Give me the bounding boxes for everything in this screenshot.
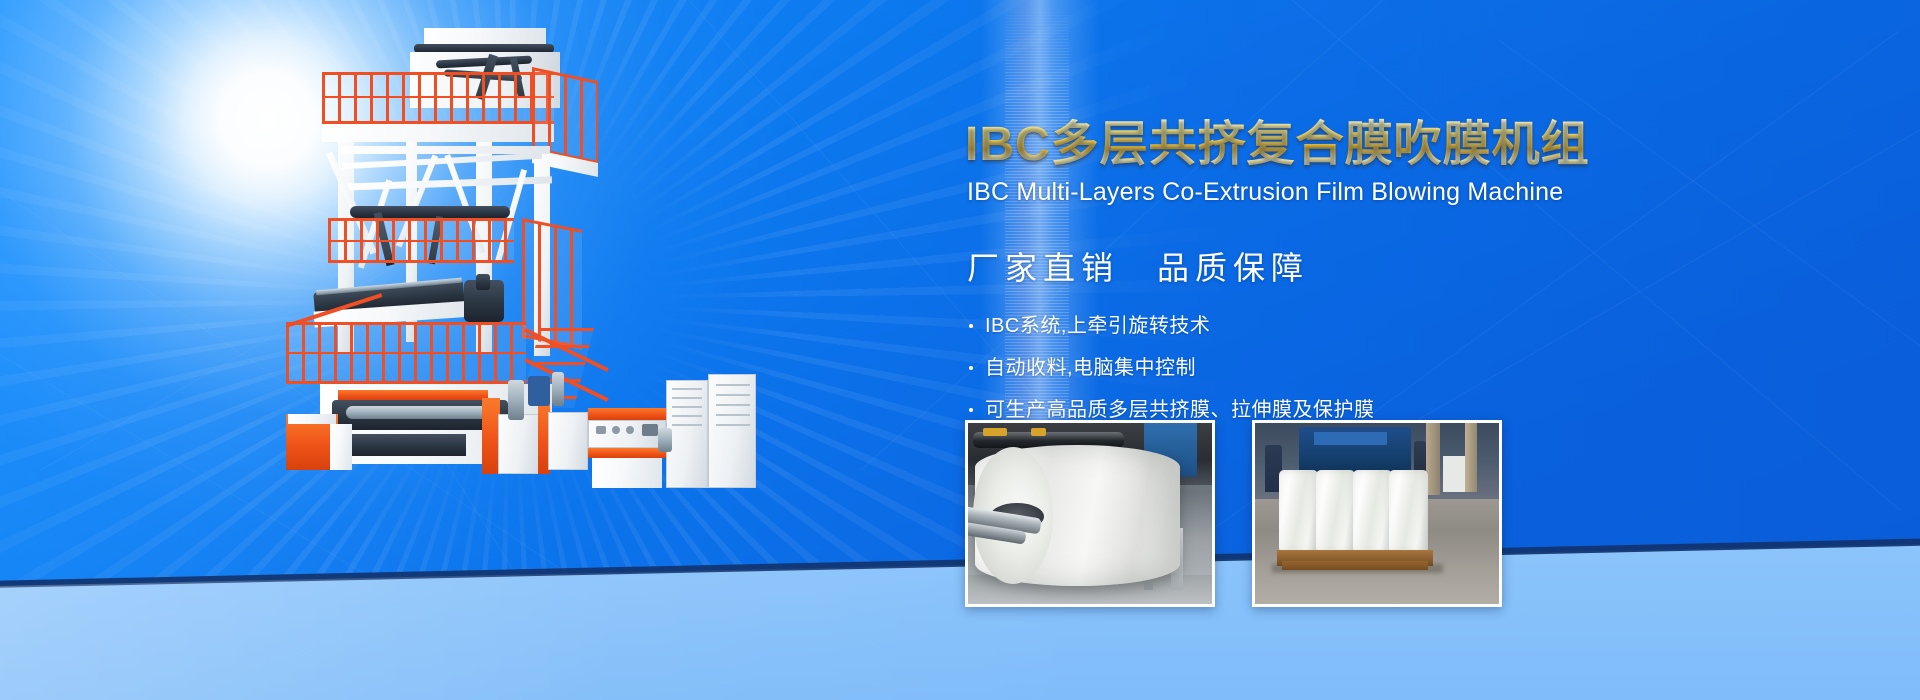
feature-item: IBC系统,上牵引旋转技术 [969,311,1865,342]
feature-list: IBC系统,上牵引旋转技术 自动收料,电脑集中控制 可生产高品质多层共挤膜、拉伸… [969,311,1865,426]
banner-title-en: IBC Multi-Layers Co-Extrusion Film Blowi… [967,178,1865,207]
photo-scene [968,423,1212,604]
product-banner: IBC多层共挤复合膜吹膜机组 IBC Multi-Layers Co-Extru… [0,0,1920,700]
banner-title-cn: IBC多层共挤复合膜吹膜机组 [965,118,1865,172]
product-photo-gallery [965,420,1502,607]
photo-scene [1255,423,1499,604]
feature-text: IBC系统,上牵引旋转技术 [985,311,1210,342]
film-rolls-on-pallet-photo [1252,420,1502,607]
feature-item: 自动收料,电脑集中控制 [969,353,1865,384]
banner-text-block: IBC多层共挤复合膜吹膜机组 IBC Multi-Layers Co-Extru… [965,118,1865,437]
banner-subheading: 厂家直销 品质保障 [967,243,1865,289]
ibc-film-blowing-machine-tower [286,28,756,518]
bullet-dot-icon [969,366,973,370]
bullet-dot-icon [969,408,973,412]
feature-text: 自动收料,电脑集中控制 [985,353,1196,384]
film-roll-on-winder-photo [965,420,1215,607]
bullet-dot-icon [969,324,973,328]
